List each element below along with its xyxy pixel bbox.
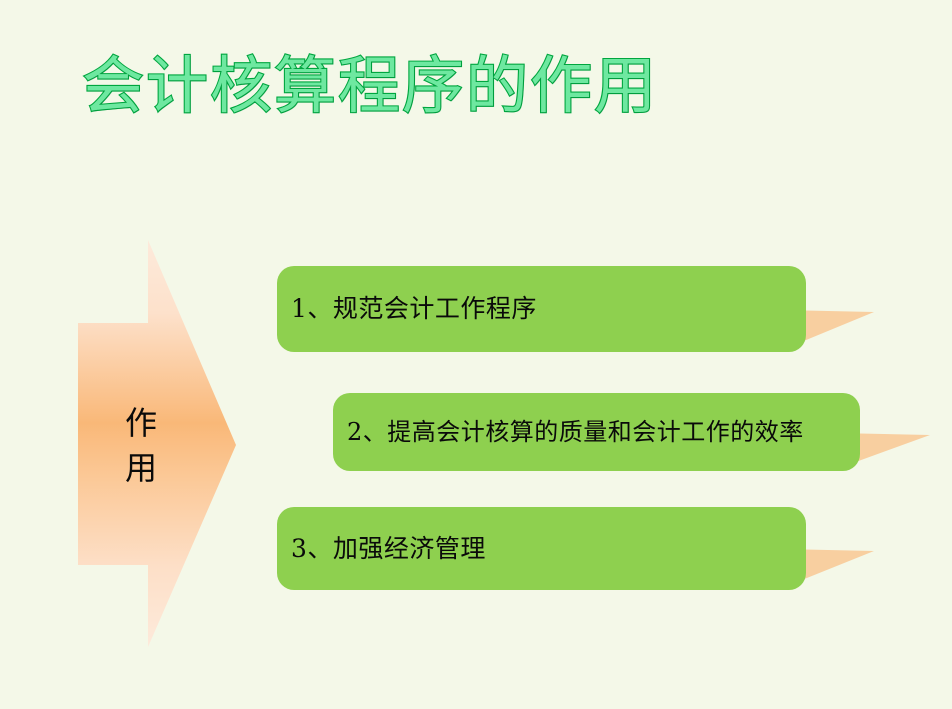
callout-body-3[interactable]: 3、加强经济管理 xyxy=(277,507,806,590)
callout-body-2[interactable]: 2、提高会计核算的质量和会计工作的效率 xyxy=(333,393,860,471)
callout-item-1[interactable]: 1、规范会计工作程序 xyxy=(277,266,877,356)
callout-body-1[interactable]: 1、规范会计工作程序 xyxy=(277,266,806,352)
callout-text-2: 2、提高会计核算的质量和会计工作的效率 xyxy=(333,417,804,447)
callout-item-2[interactable]: 2、提高会计核算的质量和会计工作的效率 xyxy=(333,393,933,475)
page-title: 会计核算程序的作用 xyxy=(82,44,702,128)
slide-canvas: 会计核算程序的作用 作 用 1、规范 xyxy=(0,0,952,709)
arrow-shape-icon xyxy=(70,238,246,654)
process-arrow: 作 用 xyxy=(70,238,246,654)
callout-item-3[interactable]: 3、加强经济管理 xyxy=(277,507,877,594)
callout-text-1: 1、规范会计工作程序 xyxy=(277,294,537,324)
callout-text-3: 3、加强经济管理 xyxy=(277,534,486,564)
